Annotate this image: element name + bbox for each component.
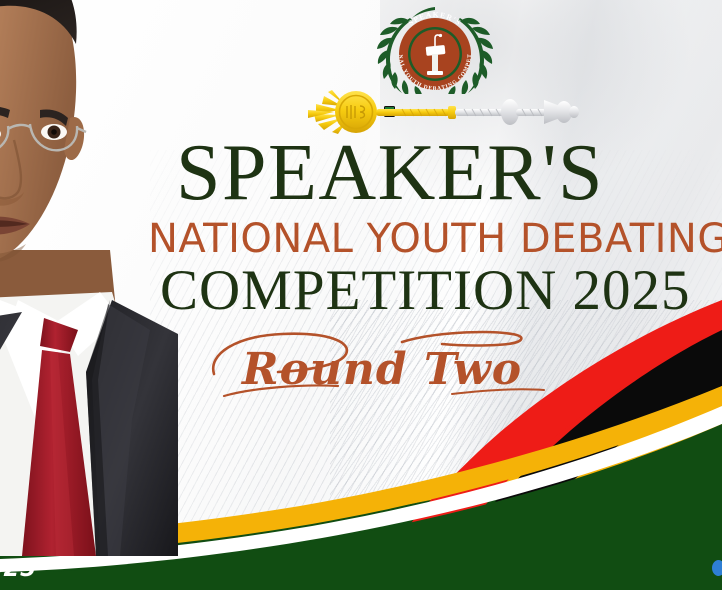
corner-accent-dot — [712, 560, 722, 576]
poster-canvas: SPEAKER'S NATIONAL YOUTH DEBATING COMPET… — [0, 0, 722, 590]
speaker-portrait — [0, 0, 178, 556]
round-two-script: Round Two — [206, 328, 556, 404]
speakers-debating-competition-logo: SPEAKER'S NATIONAL YOUTH DEBATING COMPET… — [374, 2, 496, 94]
round-two-text: Round Two — [240, 344, 522, 395]
footer-year-label: 025 — [0, 556, 37, 582]
mace-head — [335, 91, 377, 133]
ceremonial-mace — [298, 84, 584, 138]
